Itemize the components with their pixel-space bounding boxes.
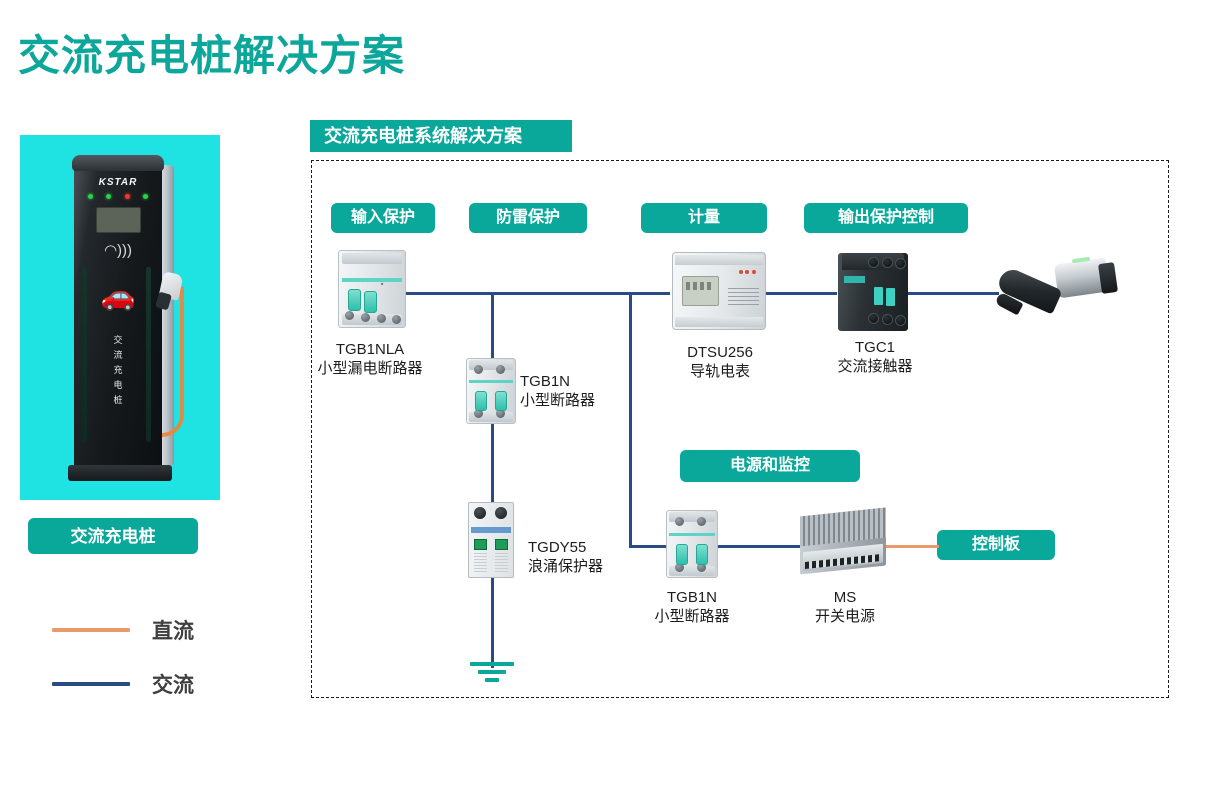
- category-badge-input-protection: 输入保护: [331, 203, 435, 233]
- spd-cap-2: [495, 507, 507, 519]
- product-photo: KSTAR ◠))) 🚗 交流充电桩: [20, 135, 220, 500]
- legend-line-dc: [52, 628, 130, 632]
- led-red: [125, 194, 130, 199]
- section-header: 交流充电桩系统解决方案: [310, 120, 572, 152]
- ev-car-plug-icon: 🚗: [74, 282, 162, 310]
- wire-ac-spd-to-ground: [491, 578, 494, 668]
- component-caption-mcb-psu: TGB1N 小型断路器: [612, 588, 772, 626]
- psu-body: [800, 507, 886, 574]
- mcb-psu-handle-1: [676, 544, 688, 565]
- rcbo-handle-1: [348, 289, 361, 311]
- component-caption-psu: MS 开关电源: [780, 588, 910, 626]
- meter-name: 导轨电表: [640, 362, 800, 381]
- meter-body: [672, 252, 766, 330]
- rcbo-top-rail: [342, 253, 403, 264]
- rcbo-terminal-2: [361, 313, 370, 322]
- mcb-spd-terminal-1: [474, 365, 483, 374]
- legend-label-ac: 交流: [152, 669, 194, 699]
- mcb-psu-terminal-1: [675, 517, 684, 526]
- rcbo-body: ■: [338, 250, 406, 328]
- meter-nameplate: [728, 288, 759, 308]
- spd-text-1: [474, 553, 487, 573]
- component-image-mcb-psu: [666, 510, 718, 578]
- ev-charging-connector: [996, 255, 1108, 333]
- wire-ac-mcb-to-psu: [717, 545, 801, 548]
- component-image-spd: [468, 502, 514, 578]
- rcbo-test-button: ■: [381, 281, 384, 286]
- mcb-spd-teal-stripe: [469, 380, 513, 383]
- rfid-wave-icon: ◠))): [74, 243, 162, 258]
- component-caption-mcb-spd: TGB1N 小型断路器: [520, 372, 660, 410]
- meter-led-1: [739, 270, 743, 274]
- wire-ac-contactor-to-connector: [907, 292, 999, 295]
- contactor-hole-1: [868, 257, 879, 268]
- meter-led-2: [745, 270, 749, 274]
- pile-top-cap: [72, 155, 164, 171]
- legend-label-dc: 直流: [152, 615, 194, 645]
- component-image-psu: [800, 512, 886, 570]
- meter-model: DTSU256: [640, 343, 800, 362]
- mcb-psu-name: 小型断路器: [612, 607, 772, 626]
- wire-dc-psu-to-control-board: [884, 545, 939, 548]
- rcbo-handle-2: [364, 291, 377, 313]
- rcbo-terminal-4: [392, 315, 401, 324]
- pile-vertical-text: 交流充电桩: [74, 333, 162, 408]
- component-image-contactor: [838, 253, 908, 331]
- mcb-psu-handle-2: [696, 544, 708, 565]
- component-caption-spd: TGDY55 浪涌保护器: [528, 538, 668, 576]
- component-image-meter: [672, 252, 766, 330]
- spd-cap-1: [474, 507, 486, 519]
- mcb-psu-body: [666, 510, 718, 578]
- mcb-psu-model: TGB1N: [612, 588, 772, 607]
- pile-base: [68, 465, 172, 481]
- mcb-spd-handle-1: [475, 391, 487, 411]
- mcb-spd-name: 小型断路器: [520, 391, 660, 410]
- component-image-rcbo: ■: [338, 250, 406, 328]
- pile-display-screen: [96, 207, 141, 233]
- spd-text-2: [495, 553, 508, 573]
- mcb-spd-terminal-2: [496, 365, 505, 374]
- legend-item-dc: 直流: [52, 615, 194, 645]
- psu-model: MS: [780, 588, 910, 607]
- ground-bar-2: [478, 670, 506, 674]
- mcb-psu-terminal-2: [697, 517, 706, 526]
- category-badge-output-protection-control: 输出保护控制: [804, 203, 968, 233]
- meter-lcd-display: [682, 276, 719, 306]
- component-image-mcb-spd: [466, 358, 516, 424]
- legend-item-ac: 交流: [52, 669, 194, 699]
- contactor-hole-6: [895, 315, 906, 326]
- mcb-psu-teal-stripe: [669, 533, 715, 536]
- spd-window-1: [474, 539, 487, 550]
- wire-ac-branch-to-mcb-spd: [491, 292, 494, 358]
- contactor-teal-band: [844, 276, 865, 282]
- diagram-page: 交流充电桩解决方案 KSTAR ◠))) 🚗 交流充电桩 交流充: [0, 0, 1213, 812]
- component-caption-meter: DTSU256 导轨电表: [640, 343, 800, 381]
- rcbo-terminal-1: [345, 311, 354, 320]
- ground-bar-1: [470, 662, 514, 666]
- spd-brand-band: [471, 527, 511, 533]
- page-title: 交流充电桩解决方案: [18, 22, 405, 83]
- contactor-hole-2: [882, 257, 893, 268]
- category-badge-power-and-monitoring: 电源和监控: [680, 450, 860, 482]
- ground-symbol: [470, 662, 514, 684]
- led-green-2: [106, 194, 111, 199]
- mcb-spd-body: [466, 358, 516, 424]
- rcbo-teal-stripe: [342, 278, 403, 282]
- wire-ac-mcb-to-spd: [491, 424, 494, 502]
- spd-name: 浪涌保护器: [528, 557, 668, 576]
- spd-window-2: [495, 539, 508, 550]
- mcb-spd-handle-2: [495, 391, 507, 411]
- psu-name: 开关电源: [780, 607, 910, 626]
- component-caption-rcbo: TGB1NLA 小型漏电断路器: [270, 340, 470, 378]
- wire-ac-branch-to-psu-row: [629, 292, 632, 547]
- category-badge-surge-protection: 防雷保护: [469, 203, 587, 233]
- category-badge-metering: 计量: [641, 203, 767, 233]
- category-badge-control-board: 控制板: [937, 530, 1055, 560]
- contactor-model: TGC1: [810, 338, 940, 357]
- contactor-name: 交流接触器: [810, 357, 940, 376]
- meter-top-rail: [675, 255, 763, 266]
- led-green-1: [88, 194, 93, 199]
- led-green-3: [143, 194, 148, 199]
- spd-body: [468, 502, 514, 578]
- pile-led-indicators: [88, 194, 148, 199]
- spd-model: TGDY55: [528, 538, 668, 557]
- meter-bottom-rail: [675, 317, 763, 328]
- ground-bar-3: [485, 678, 499, 682]
- rcbo-name: 小型漏电断路器: [270, 359, 470, 378]
- wire-ac-meter-to-contactor: [765, 292, 837, 295]
- contactor-hole-5: [882, 314, 893, 325]
- rcbo-terminal-3: [377, 314, 386, 323]
- contactor-body: [838, 253, 908, 331]
- mcb-spd-model: TGB1N: [520, 372, 660, 391]
- component-caption-contactor: TGC1 交流接触器: [810, 338, 940, 376]
- charging-pile-illustration: KSTAR ◠))) 🚗 交流充电桩: [62, 147, 174, 487]
- psu-heatsink-fins: [800, 507, 886, 546]
- product-caption-badge: 交流充电桩: [28, 518, 198, 554]
- contactor-hole-4: [868, 313, 879, 324]
- legend-line-ac: [52, 682, 130, 686]
- contactor-hole-3: [895, 258, 906, 269]
- contactor-teal-block-2: [886, 288, 895, 306]
- meter-led-3: [752, 270, 756, 274]
- rcbo-model: TGB1NLA: [270, 340, 470, 359]
- contactor-teal-block-1: [874, 287, 883, 305]
- pile-brand-logo: KSTAR: [74, 177, 162, 188]
